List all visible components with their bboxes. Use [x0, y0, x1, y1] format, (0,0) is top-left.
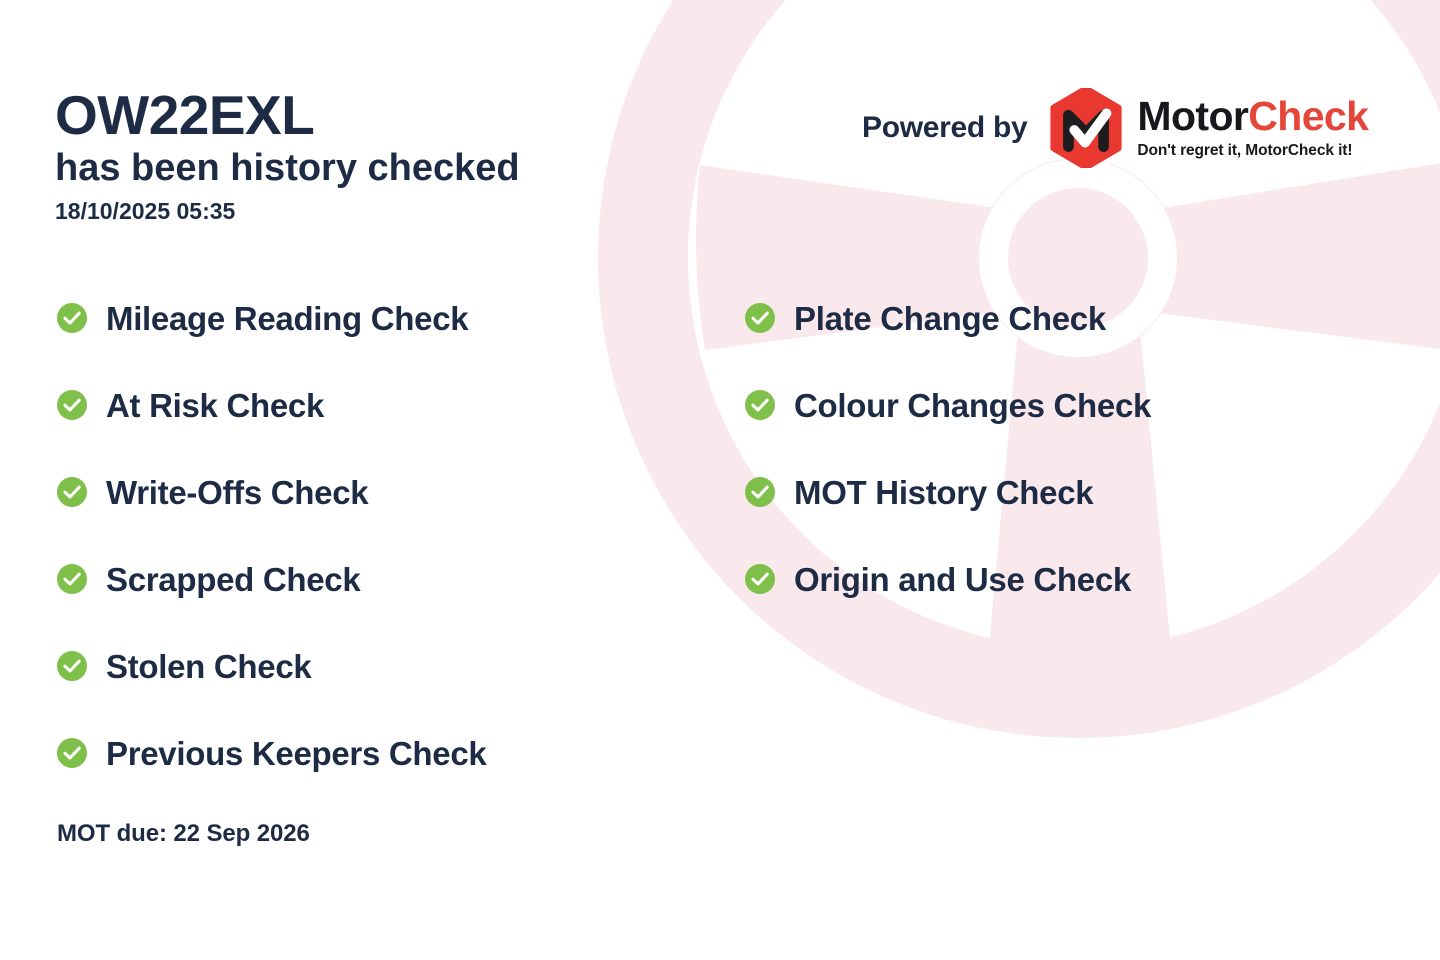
- motorcheck-tagline: Don't regret it, MotorCheck it!: [1137, 142, 1368, 160]
- check-item: Scrapped Check: [57, 556, 486, 602]
- check-item: Plate Change Check: [745, 295, 1151, 341]
- checks-right-column: Plate Change Check Colour Changes Check …: [745, 295, 1151, 643]
- vehicle-registration-plate: OW22EXL: [55, 86, 520, 144]
- report-timestamp: 18/10/2025 05:35: [55, 198, 520, 225]
- wordmark-check: Check: [1248, 93, 1368, 139]
- check-circle-icon: [745, 390, 775, 420]
- check-item-label: At Risk Check: [106, 389, 324, 422]
- check-item-label: Plate Change Check: [794, 302, 1106, 335]
- check-circle-icon: [57, 564, 87, 594]
- check-item: Mileage Reading Check: [57, 295, 486, 341]
- powered-by-label: Powered by: [862, 111, 1027, 145]
- check-circle-icon: [57, 651, 87, 681]
- check-item: Previous Keepers Check: [57, 730, 486, 776]
- check-item-label: Colour Changes Check: [794, 389, 1151, 422]
- motorcheck-hexagon-logo-icon: [1049, 88, 1123, 168]
- report-subtitle: has been history checked: [55, 146, 520, 191]
- check-item: Write-Offs Check: [57, 469, 486, 515]
- check-item-label: Write-Offs Check: [106, 476, 368, 509]
- wordmark-motor: Motor: [1137, 93, 1248, 139]
- check-item: At Risk Check: [57, 382, 486, 428]
- check-circle-icon: [57, 477, 87, 507]
- check-item: Stolen Check: [57, 643, 486, 689]
- check-item: MOT History Check: [745, 469, 1151, 515]
- check-item: Colour Changes Check: [745, 382, 1151, 428]
- report-card: OW22EXL has been history checked 18/10/2…: [0, 0, 1440, 960]
- checks-left-column: Mileage Reading Check At Risk Check Writ…: [57, 295, 486, 817]
- check-circle-icon: [57, 738, 87, 768]
- check-item-label: Origin and Use Check: [794, 563, 1131, 596]
- check-circle-icon: [745, 303, 775, 333]
- powered-by-branding: Powered by MotorCheck Don't regret it, M…: [862, 88, 1368, 168]
- check-item-label: Scrapped Check: [106, 563, 360, 596]
- check-item-label: MOT History Check: [794, 476, 1093, 509]
- check-circle-icon: [57, 390, 87, 420]
- check-item-label: Mileage Reading Check: [106, 302, 468, 335]
- check-circle-icon: [745, 477, 775, 507]
- check-item: Origin and Use Check: [745, 556, 1151, 602]
- check-circle-icon: [745, 564, 775, 594]
- motorcheck-wordmark: MotorCheck: [1137, 96, 1368, 137]
- check-item-label: Stolen Check: [106, 650, 311, 683]
- motorcheck-wordmark-block: MotorCheck Don't regret it, MotorCheck i…: [1137, 96, 1368, 160]
- mot-due-text: MOT due: 22 Sep 2026: [57, 820, 310, 848]
- check-circle-icon: [57, 303, 87, 333]
- check-item-label: Previous Keepers Check: [106, 737, 486, 770]
- report-header: OW22EXL has been history checked 18/10/2…: [55, 86, 520, 225]
